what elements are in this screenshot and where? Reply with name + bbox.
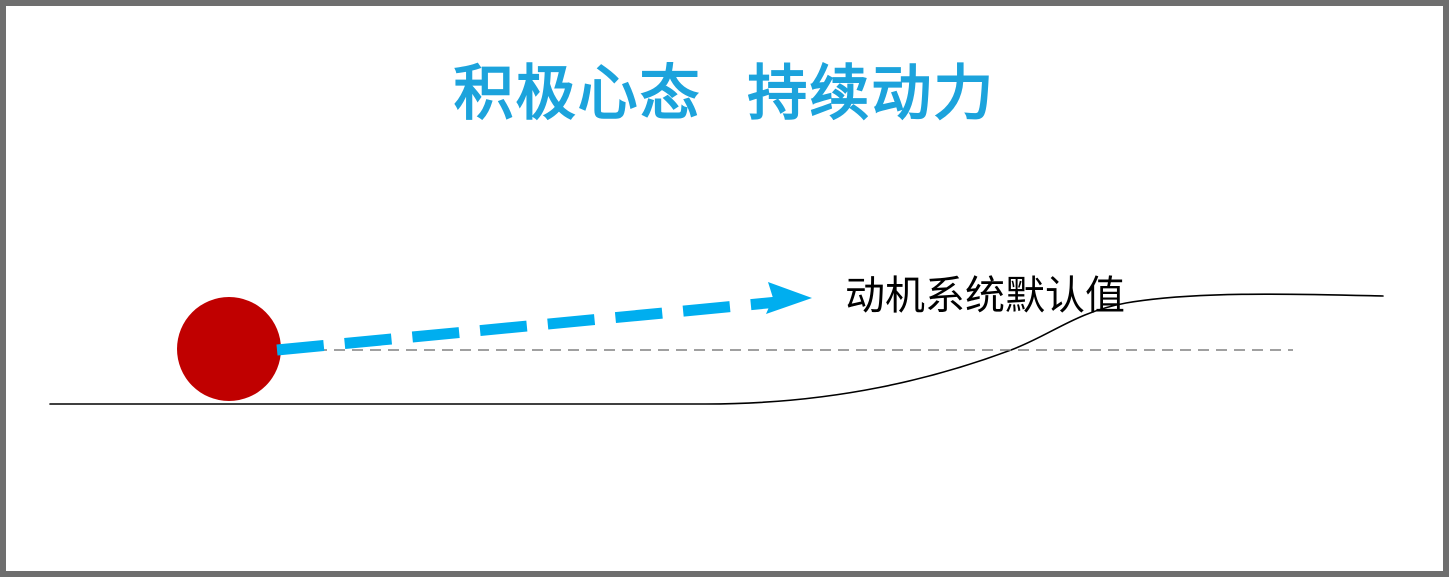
momentum-arrow-shaft — [277, 302, 778, 350]
page-title: 积极心态 持续动力 — [6, 58, 1443, 130]
annotation-label-default-level: 动机系统默认值 — [845, 272, 1125, 320]
slide-frame: 积极心态 持续动力 动机系统默认值 — [0, 0, 1449, 577]
slide-canvas: 积极心态 持续动力 动机系统默认值 — [6, 6, 1443, 571]
red-ball — [177, 297, 281, 401]
